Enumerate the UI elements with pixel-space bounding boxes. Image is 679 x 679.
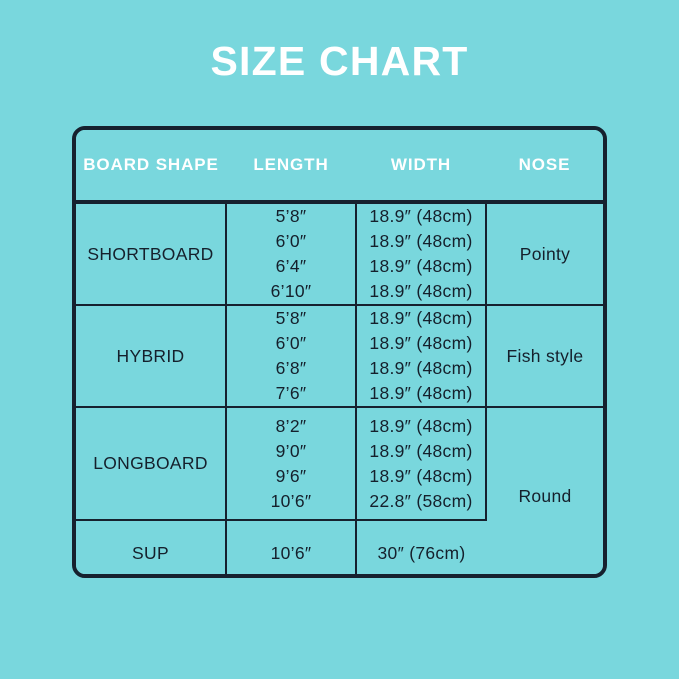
width-value: 18.9″ (48cm): [369, 306, 472, 331]
width-value: 18.9″ (48cm): [369, 279, 472, 304]
cell-nose: Fish style: [486, 305, 603, 407]
cell-width: 30″ (76cm): [356, 520, 486, 578]
width-value: 18.9″ (48cm): [369, 204, 472, 229]
cell-length: 5’8″ 6’0″ 6’4″ 6’10″: [226, 202, 356, 305]
length-value: 7’6″: [276, 381, 307, 406]
width-value: 18.9″ (48cm): [369, 356, 472, 381]
table-row: LONGBOARD 8’2″ 9’0″ 9’6″ 10’6″ 18.9″ (48…: [76, 407, 603, 520]
table-row: HYBRID 5’8″ 6’0″ 6’8″ 7’6″ 18.9″ (48cm) …: [76, 305, 603, 407]
table-body: SHORTBOARD 5’8″ 6’0″ 6’4″ 6’10″ 18.9″ (4…: [76, 202, 603, 578]
cell-board-shape: HYBRID: [76, 305, 226, 407]
size-chart-page: SIZE CHART BOARD SHAPE LENGTH WIDTH NOSE…: [0, 0, 679, 679]
header-nose: NOSE: [486, 130, 603, 202]
length-value: 6’4″: [276, 254, 307, 279]
length-value: 10’6″: [271, 489, 312, 514]
length-value: 8’2″: [276, 414, 307, 439]
width-value: 18.9″ (48cm): [369, 439, 472, 464]
size-chart-table-frame: BOARD SHAPE LENGTH WIDTH NOSE SHORTBOARD…: [72, 126, 607, 578]
page-title: SIZE CHART: [0, 36, 679, 86]
cell-length: 10’6″: [226, 520, 356, 578]
size-chart-table: BOARD SHAPE LENGTH WIDTH NOSE SHORTBOARD…: [76, 130, 603, 578]
table-row: SHORTBOARD 5’8″ 6’0″ 6’4″ 6’10″ 18.9″ (4…: [76, 202, 603, 305]
width-value: 18.9″ (48cm): [369, 331, 472, 356]
length-value: 6’8″: [276, 356, 307, 381]
cell-board-shape: LONGBOARD: [76, 407, 226, 520]
header-row: BOARD SHAPE LENGTH WIDTH NOSE: [76, 130, 603, 202]
cell-width: 18.9″ (48cm) 18.9″ (48cm) 18.9″ (48cm) 2…: [356, 407, 486, 520]
table-header: BOARD SHAPE LENGTH WIDTH NOSE: [76, 130, 603, 202]
cell-length: 5’8″ 6’0″ 6’8″ 7’6″: [226, 305, 356, 407]
length-list: 5’8″ 6’0″ 6’8″ 7’6″: [227, 306, 355, 406]
length-value: 5’8″: [276, 204, 307, 229]
cell-length: 8’2″ 9’0″ 9’6″ 10’6″: [226, 407, 356, 520]
width-value: 18.9″ (48cm): [369, 254, 472, 279]
cell-nose-merged: Round: [486, 407, 603, 578]
length-list: 8’2″ 9’0″ 9’6″ 10’6″: [227, 414, 355, 514]
header-board-shape: BOARD SHAPE: [76, 130, 226, 202]
width-list: 18.9″ (48cm) 18.9″ (48cm) 18.9″ (48cm) 1…: [357, 306, 485, 406]
cell-width: 18.9″ (48cm) 18.9″ (48cm) 18.9″ (48cm) 1…: [356, 305, 486, 407]
length-value: 6’10″: [271, 279, 312, 304]
cell-board-shape: SHORTBOARD: [76, 202, 226, 305]
cell-nose: Pointy: [486, 202, 603, 305]
header-width: WIDTH: [356, 130, 486, 202]
width-value: 18.9″ (48cm): [369, 414, 472, 439]
length-value: 9’0″: [276, 439, 307, 464]
width-list: 18.9″ (48cm) 18.9″ (48cm) 18.9″ (48cm) 1…: [357, 204, 485, 304]
length-list: 5’8″ 6’0″ 6’4″ 6’10″: [227, 204, 355, 304]
length-value: 9’6″: [276, 464, 307, 489]
length-value: 6’0″: [276, 229, 307, 254]
length-value: 6’0″: [276, 331, 307, 356]
width-value: 18.9″ (48cm): [369, 381, 472, 406]
width-value: 18.9″ (48cm): [369, 464, 472, 489]
width-list: 18.9″ (48cm) 18.9″ (48cm) 18.9″ (48cm) 2…: [357, 414, 485, 514]
width-value: 22.8″ (58cm): [369, 489, 472, 514]
length-value: 5’8″: [276, 306, 307, 331]
cell-width: 18.9″ (48cm) 18.9″ (48cm) 18.9″ (48cm) 1…: [356, 202, 486, 305]
cell-board-shape: SUP: [76, 520, 226, 578]
width-value: 18.9″ (48cm): [369, 229, 472, 254]
header-length: LENGTH: [226, 130, 356, 202]
